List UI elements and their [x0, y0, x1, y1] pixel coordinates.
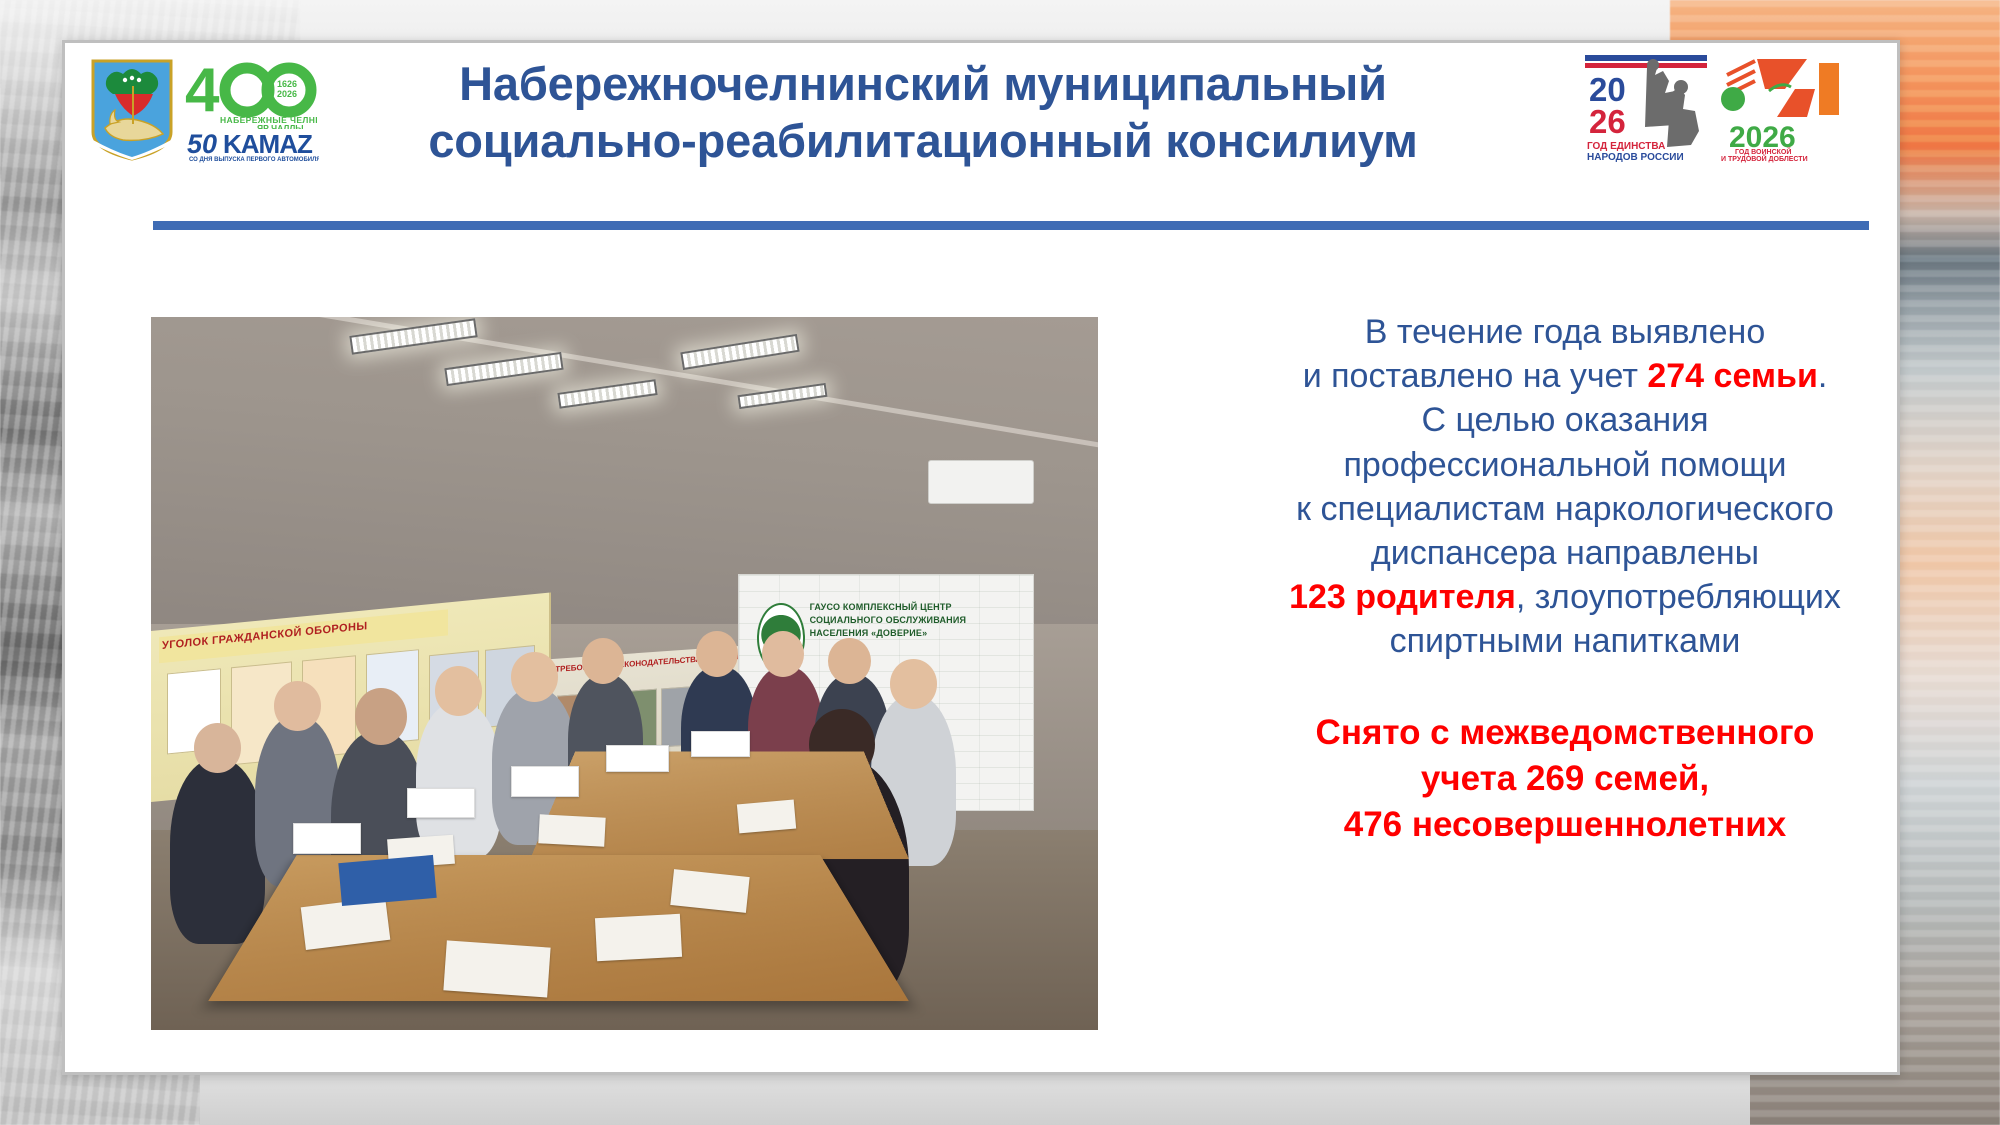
document-sheet — [443, 941, 550, 998]
header-divider — [153, 221, 1869, 230]
ceiling-lamp — [558, 379, 658, 408]
name-tent-card — [606, 745, 670, 773]
text-line-3: С целью оказания — [1165, 398, 1965, 442]
press-wall-line-3: НАСЕЛЕНИЯ «ДОВЕРИЕ» — [810, 627, 1021, 640]
svg-text:И ТРУДОВОЙ ДОБЛЕСТИ: И ТРУДОВОЙ ДОБЛЕСТИ — [1721, 154, 1808, 163]
svg-text:2026: 2026 — [277, 89, 297, 99]
name-tent-card — [511, 766, 579, 797]
text-line-11: 476 несовершеннолетних — [1165, 802, 1965, 848]
participant — [416, 702, 501, 859]
ceiling-lamp — [444, 352, 563, 387]
slide-header: 4 1626 2026 НАБЕРЕЖНЫЕ ЧЕЛНЫ ЯР ЧАЛЛЫ 50… — [65, 43, 1897, 215]
participant-head — [355, 688, 407, 745]
participant-head — [828, 638, 871, 684]
svg-text:ГОД ЕДИНСТВА: ГОД ЕДИНСТВА — [1587, 141, 1665, 152]
text-line-2: и поставлено на учет 274 семьи. — [1165, 354, 1965, 398]
text-line-2-prefix: и поставлено на учет — [1303, 357, 1648, 395]
anniversary-400-logo: 4 1626 2026 НАБЕРЕЖНЫЕ ЧЕЛНЫ ЯР ЧАЛЛЫ — [185, 57, 317, 129]
year-of-unity-logo: 20 26 ГОД ЕДИНСТВА НАРОДОВ РОССИИ — [1585, 53, 1707, 163]
text-line-6: диспансера направлены — [1165, 531, 1965, 575]
document-sheet — [539, 814, 607, 846]
statistics-paragraph-secondary: Снято с межведомственного учета 269 семе… — [1165, 710, 1965, 849]
text-line-4: профессиональной помощи — [1165, 443, 1965, 487]
coat-of-arms-icon — [89, 58, 175, 162]
press-wall-text: ГАУСО КОМПЛЕКСНЫЙ ЦЕНТР СОЦИАЛЬНОГО ОБСЛ… — [810, 601, 1021, 640]
participant-head — [890, 659, 937, 709]
statistics-text-block: В течение года выявлено и поставлено на … — [1165, 310, 1965, 848]
stat-families-registered: 274 семьи — [1647, 357, 1818, 395]
text-line-9: Снято с межведомственного — [1165, 710, 1965, 756]
air-conditioner — [928, 460, 1034, 505]
blue-folder — [339, 855, 437, 906]
svg-text:СО ДНЯ ВЫПУСКА ПЕРВОГО АВТОМОБ: СО ДНЯ ВЫПУСКА ПЕРВОГО АВТОМОБИЛЯ — [189, 157, 319, 163]
year-of-valour-2026-logo: 2026 ГОД ВОИНСКОЙ И ТРУДОВОЙ ДОБЛЕСТИ — [1711, 53, 1851, 165]
title-line-2: социально-реабилитационный консилиум — [333, 112, 1513, 169]
press-wall-line-1: ГАУСО КОМПЛЕКСНЫЙ ЦЕНТР — [810, 601, 1021, 614]
text-line-5: к специалистам наркологического — [1165, 487, 1965, 531]
text-line-1: В течение года выявлено — [1165, 310, 1965, 354]
participant-head — [696, 631, 739, 677]
text-line-2-suffix: . — [1818, 357, 1827, 395]
svg-text:50: 50 — [187, 129, 217, 159]
name-tent-card — [407, 788, 475, 819]
press-wall-line-2: СОЦИАЛЬНОГО ОБСЛУЖИВАНИЯ — [810, 614, 1021, 627]
name-tent-card — [691, 731, 750, 757]
text-line-7: 123 родителя, злоупотребляющих — [1165, 575, 1965, 619]
text-line-8: спиртными напитками — [1165, 619, 1965, 663]
svg-text:НАРОДОВ РОССИИ: НАРОДОВ РОССИИ — [1587, 152, 1684, 163]
participant-head — [274, 681, 321, 731]
meeting-photo: УГОЛОК ГРАЖДАНСКОЙ ОБОРОНЫ ТРЕБОВАНИЯ ЗА… — [151, 317, 1098, 1030]
participant-head — [762, 631, 805, 677]
svg-text:ГОД ВОИНСКОЙ: ГОД ВОИНСКОЙ — [1735, 147, 1791, 156]
document-sheet — [595, 914, 682, 961]
svg-text:1626: 1626 — [277, 79, 297, 89]
stat-parents-referred: 123 родителя — [1289, 578, 1516, 616]
participant-head — [194, 723, 241, 773]
name-tent-card — [293, 823, 361, 854]
svg-text:26: 26 — [1589, 103, 1626, 140]
ceiling-lamp — [681, 334, 800, 371]
page-title: Набережночелнинский муниципальный социал… — [333, 55, 1513, 170]
participant-head — [511, 652, 558, 702]
text-line-7-suffix: , злоупотребляющих — [1516, 578, 1841, 616]
slide-stage: 4 1626 2026 НАБЕРЕЖНЫЕ ЧЕЛНЫ ЯР ЧАЛЛЫ 50… — [0, 0, 2000, 1125]
kamaz-50-logo: 50 KAMAZ СО ДНЯ ВЫПУСКА ПЕРВОГО АВТОМОБИ… — [187, 127, 319, 163]
svg-text:4: 4 — [185, 57, 220, 125]
document-sheet — [737, 799, 796, 832]
participant — [170, 759, 265, 944]
svg-text:KAMAZ: KAMAZ — [223, 129, 313, 159]
text-line-10: учета 269 семей, — [1165, 756, 1965, 802]
title-line-1: Набережночелнинский муниципальный — [333, 55, 1513, 112]
statistics-paragraph-primary: В течение года выявлено и поставлено на … — [1165, 310, 1965, 664]
slide-card: 4 1626 2026 НАБЕРЕЖНЫЕ ЧЕЛНЫ ЯР ЧАЛЛЫ 50… — [62, 40, 1900, 1075]
